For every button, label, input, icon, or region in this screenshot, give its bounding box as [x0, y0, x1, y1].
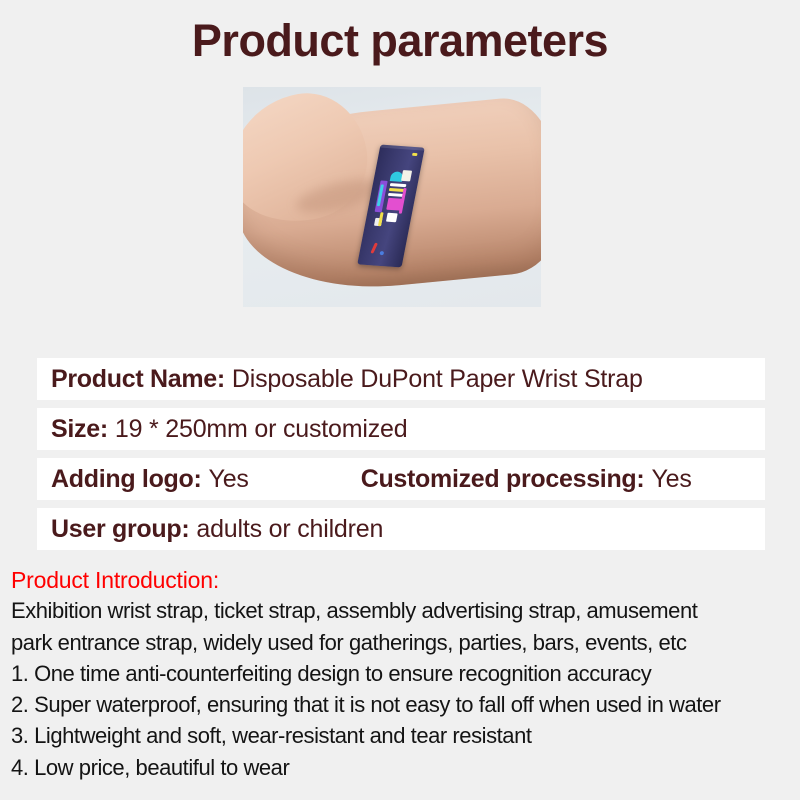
wristband-yellow-dot: [412, 153, 418, 156]
table-row: Adding logo: Yes Customized processing: …: [37, 458, 765, 500]
spec-label: Product Name:: [51, 365, 225, 394]
spec-label: Size:: [51, 415, 108, 444]
spec-label: Customized processing:: [361, 465, 645, 494]
introduction-feature-item: 2. Super waterproof, ensuring that it is…: [11, 689, 800, 720]
introduction-paragraph-line: park entrance strap, widely used for gat…: [11, 627, 800, 658]
spec-value: Yes: [209, 465, 249, 494]
product-photo: [243, 87, 541, 307]
product-parameters-table: Product Name: Disposable DuPont Paper Wr…: [37, 358, 765, 558]
spec-value: Disposable DuPont Paper Wrist Strap: [232, 365, 643, 394]
photo-background: [243, 87, 541, 307]
introduction-feature-item: 4. Low price, beautiful to wear: [11, 752, 800, 783]
table-row: Product Name: Disposable DuPont Paper Wr…: [37, 358, 765, 400]
introduction-heading: Product Introduction:: [11, 566, 800, 595]
product-introduction-section: Product Introduction: Exhibition wrist s…: [11, 566, 800, 783]
spec-label: Adding logo:: [51, 465, 202, 494]
spec-cell-size: Size: 19 * 250mm or customized: [51, 415, 407, 444]
table-row: User group: adults or children: [37, 508, 765, 550]
spec-label: User group:: [51, 515, 189, 544]
spec-value: Yes: [651, 465, 691, 494]
wristband-artwork: [367, 167, 415, 242]
spec-cell-product-name: Product Name: Disposable DuPont Paper Wr…: [51, 365, 643, 394]
wristband-red-mark: [370, 242, 377, 253]
spec-cell-adding-logo: Adding logo: Yes: [51, 465, 249, 494]
introduction-paragraph-line: Exhibition wrist strap, ticket strap, as…: [11, 595, 800, 626]
spec-value: 19 * 250mm or customized: [115, 415, 408, 444]
page-title: Product parameters: [0, 16, 800, 66]
spec-cell-customized-processing: Customized processing: Yes: [361, 465, 692, 494]
introduction-feature-item: 1. One time anti-counterfeiting design t…: [11, 658, 800, 689]
spec-cell-user-group: User group: adults or children: [51, 515, 383, 544]
wristband-blue-dot: [379, 251, 384, 255]
table-row: Size: 19 * 250mm or customized: [37, 408, 765, 450]
spec-value: adults or children: [196, 515, 383, 544]
introduction-feature-item: 3. Lightweight and soft, wear-resistant …: [11, 720, 800, 751]
